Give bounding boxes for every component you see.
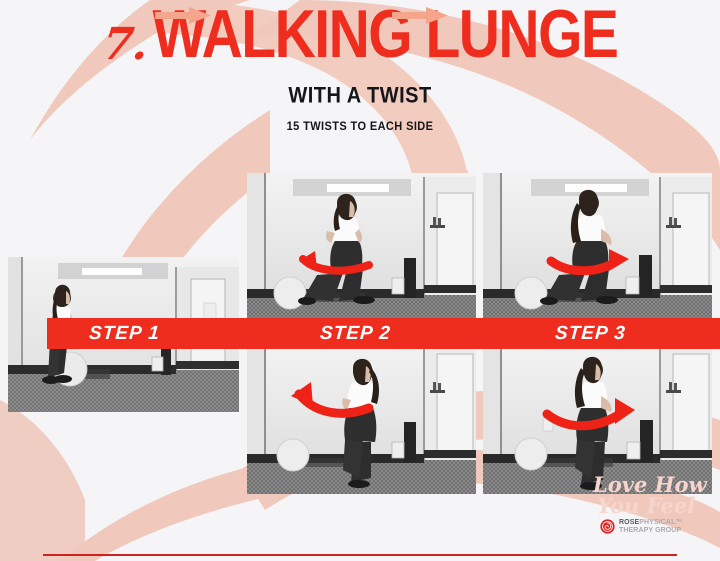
logo-line2: THERAPY GROUP (619, 527, 683, 534)
step-banner: STEP 1 STEP 2 STEP 3 (47, 318, 720, 349)
rose-emblem-icon (600, 519, 615, 534)
logo-word2: PHYSICAL (639, 519, 675, 526)
photo-panel-step3-bottom (483, 342, 712, 494)
logo-trademark: ™ (675, 519, 682, 526)
header: 7. WALKING LUNGE WITH A TWIST 15 TWISTS … (0, 0, 720, 133)
page-title: 7. WALKING LUNGE (0, 0, 720, 69)
logo-name: ROSE (619, 519, 639, 526)
photo-panel-step3-top (483, 173, 712, 325)
exercise-reps: 15 TWISTS TO EACH SIDE (0, 121, 720, 134)
step-label-3: STEP 3 (554, 318, 627, 349)
exercise-number: 7. (100, 23, 149, 67)
arrow-right-icon-1 (155, 7, 211, 24)
exercise-title: WALKING LUNGE (152, 2, 617, 69)
arrow-right-icon-2 (392, 7, 448, 24)
step-label-2: STEP 2 (319, 318, 392, 349)
company-logo: ROSEPHYSICAL™ THERAPY GROUP (600, 519, 683, 534)
step-label-1: STEP 1 (88, 318, 161, 349)
photo-panel-step2-top (247, 173, 476, 325)
exercise-subtitle: WITH A TWIST (0, 84, 720, 109)
photo-panel-step2-bottom (247, 342, 476, 494)
bottom-divider (43, 554, 677, 556)
